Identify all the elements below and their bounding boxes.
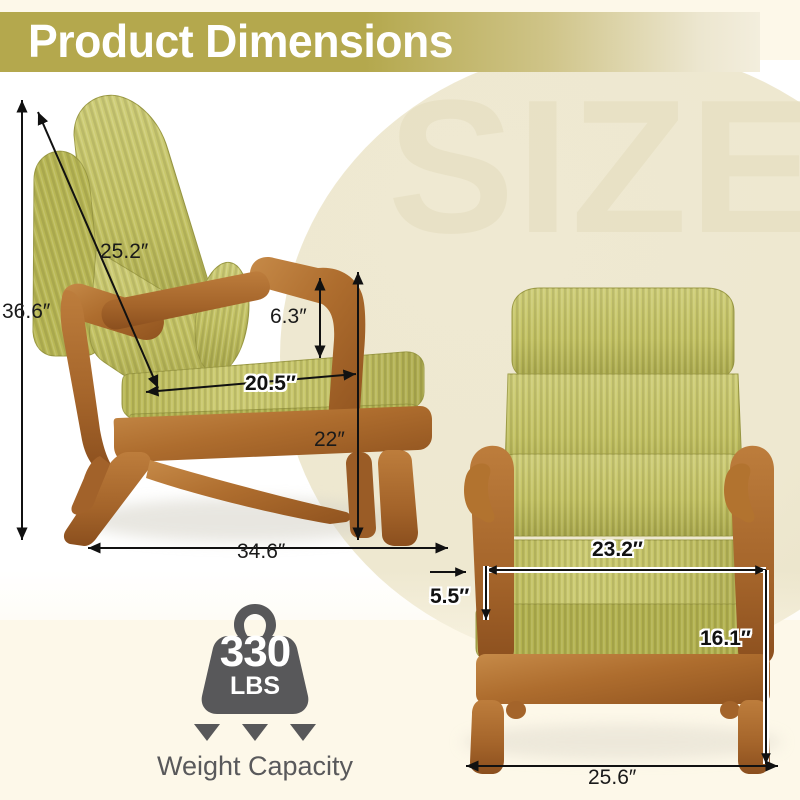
weight-capacity-value: 330 [190, 630, 320, 674]
front-view-chair-art [462, 288, 782, 774]
infographic-canvas: SIZE Product Dimensions [0, 0, 800, 800]
dimension-label-overall-width: 25.6″ [588, 766, 636, 790]
dimension-label-seat-width: 23.2″ [592, 538, 643, 562]
weight-arrows-row [120, 724, 390, 741]
dimension-label-cushion-thickness: 5.5″ [430, 585, 469, 609]
triangle-down-icon [194, 724, 220, 741]
dimension-label-overall-height: 36.6″ [2, 300, 50, 324]
triangle-down-icon [290, 724, 316, 741]
dimension-label-backrest-height: 25.2″ [100, 240, 148, 264]
dimension-label-seat-height: 16.1″ [700, 627, 751, 651]
dimension-label-seat-depth: 20.5″ [245, 372, 296, 396]
dimension-label-armrest-height: 6.3″ [270, 305, 307, 329]
weight-capacity-unit: LBS [190, 674, 320, 699]
triangle-down-icon [242, 724, 268, 741]
weight-icon-wrapper: 330 LBS [190, 600, 320, 718]
weight-capacity-caption: Weight Capacity [120, 751, 390, 782]
dimension-label-overall-depth: 34.6″ [237, 540, 285, 564]
weight-capacity-block: 330 LBS Weight Capacity [120, 600, 390, 782]
side-view-chair-art [33, 95, 432, 546]
dimension-label-seat-back-height: 22″ [314, 428, 345, 452]
